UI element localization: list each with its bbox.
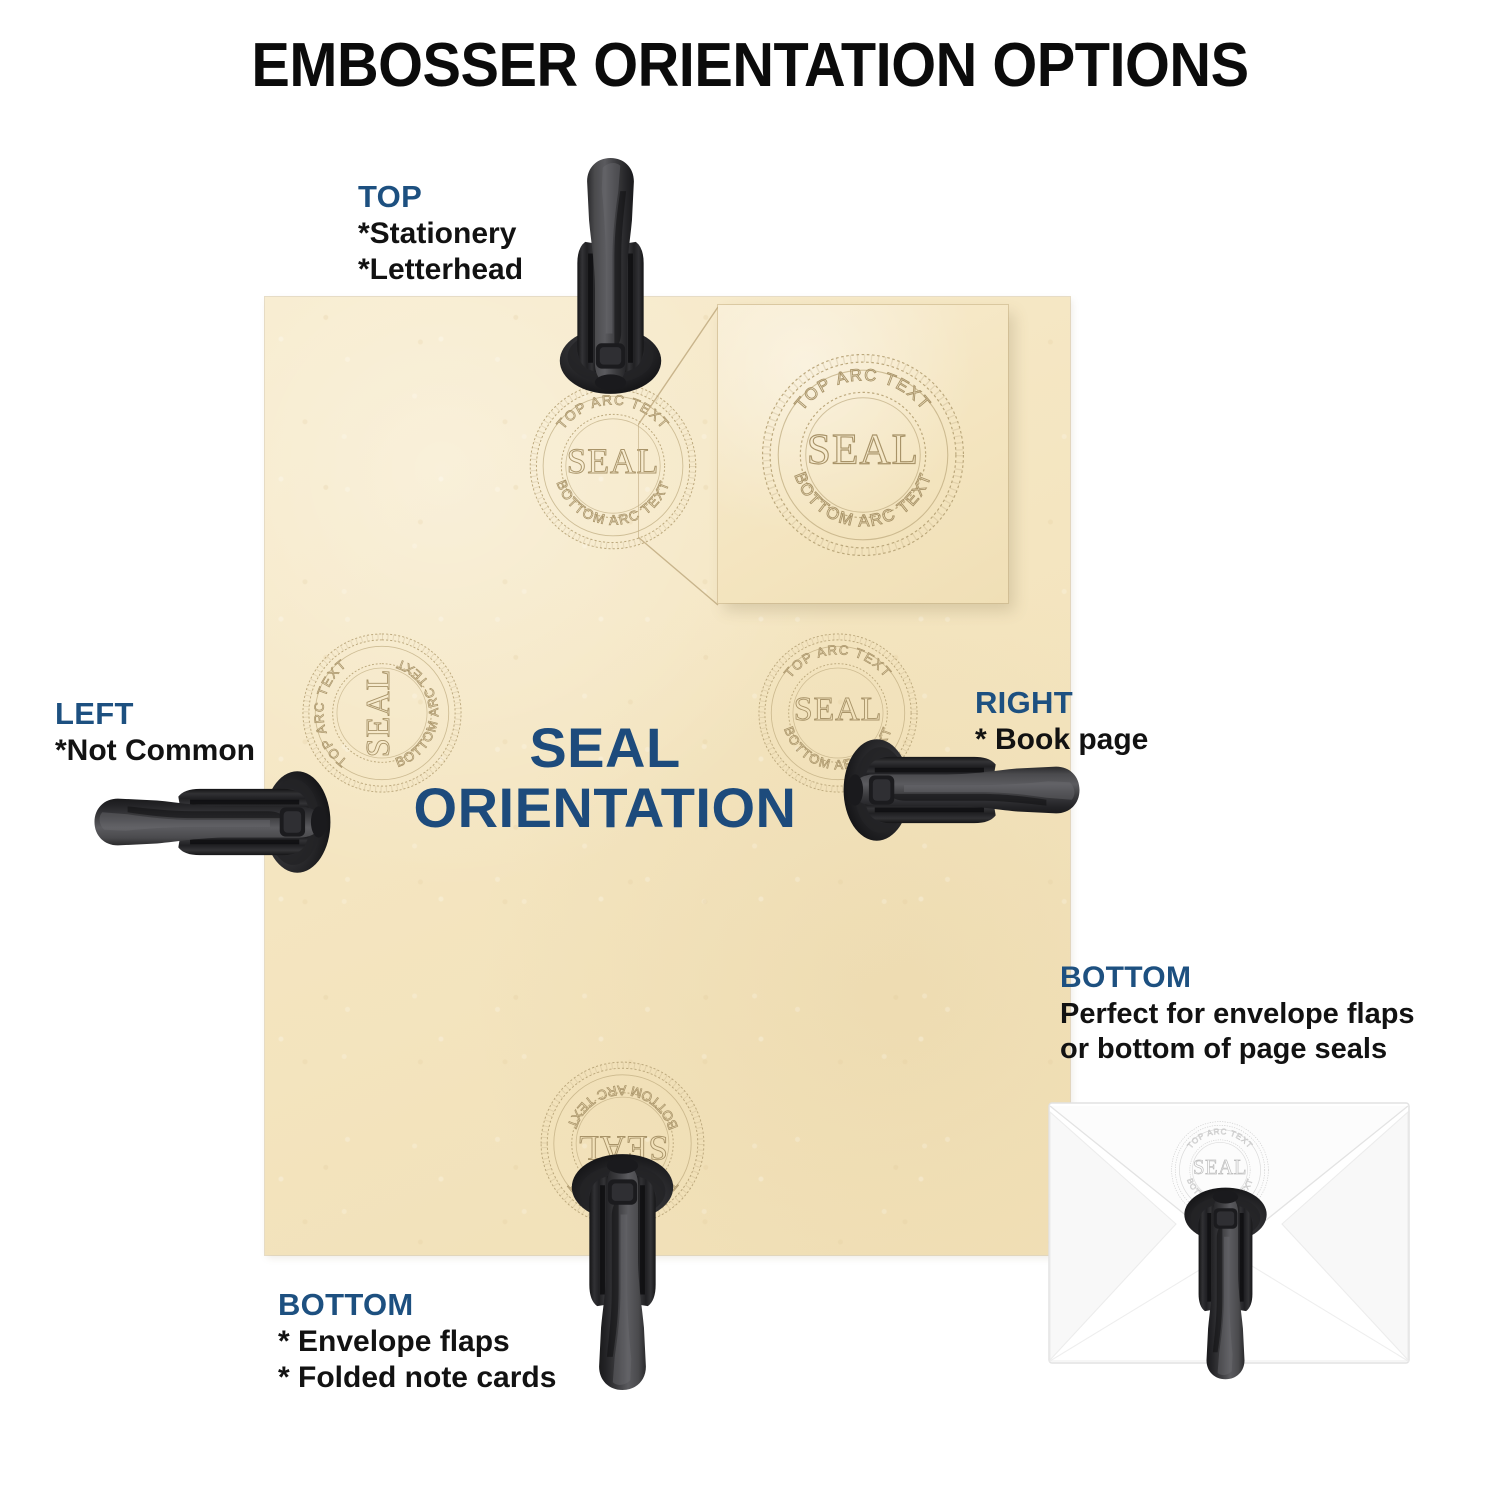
callout-top-line-2: *Letterhead — [358, 252, 523, 289]
callout-bottom-heading: BOTTOM — [278, 1286, 556, 1324]
page-title: EMBOSSER ORIENTATION OPTIONS — [53, 30, 1448, 101]
callout-envelope-line-1: Perfect for envelope flaps — [1060, 997, 1415, 1032]
magnifier-frame — [718, 305, 1008, 603]
callout-right-heading: RIGHT — [975, 684, 1148, 722]
center-caption-line2: ORIENTATION — [335, 778, 875, 838]
callout-top-line-1: *Stationery — [358, 216, 523, 253]
embosser-tool-top[interactable] — [552, 152, 669, 396]
callout-top-heading: TOP — [358, 178, 523, 216]
callout-envelope-line-2: or bottom of page seals — [1060, 1032, 1415, 1067]
callout-bottom-line-1: * Envelope flaps — [278, 1324, 556, 1361]
embossed-seal-magnified — [755, 347, 971, 563]
embosser-tool-left[interactable] — [89, 764, 333, 881]
magnifier-panel — [718, 305, 1018, 610]
callout-bottom: BOTTOM * Envelope flaps * Folded note ca… — [278, 1286, 556, 1397]
infographic-canvas: EMBOSSER ORIENTATION OPTIONS — [0, 0, 1500, 1500]
callout-right-line-1: * Book page — [975, 722, 1148, 759]
callout-left-heading: LEFT — [55, 695, 255, 733]
callout-top: TOP *Stationery *Letterhead — [358, 178, 523, 289]
callout-envelope-heading: BOTTOM — [1060, 960, 1415, 997]
callout-left: LEFT *Not Common — [55, 695, 255, 769]
callout-envelope: BOTTOM Perfect for envelope flaps or bot… — [1060, 960, 1415, 1067]
center-caption-line1: SEAL — [335, 718, 875, 778]
embosser-tool-bottom[interactable] — [564, 1152, 681, 1396]
embosser-tool-envelope[interactable] — [1178, 1186, 1273, 1384]
callout-right: RIGHT * Book page — [975, 684, 1148, 758]
callout-left-line-1: *Not Common — [55, 733, 255, 770]
center-caption: SEAL ORIENTATION — [335, 718, 875, 839]
callout-bottom-line-2: * Folded note cards — [278, 1360, 556, 1397]
